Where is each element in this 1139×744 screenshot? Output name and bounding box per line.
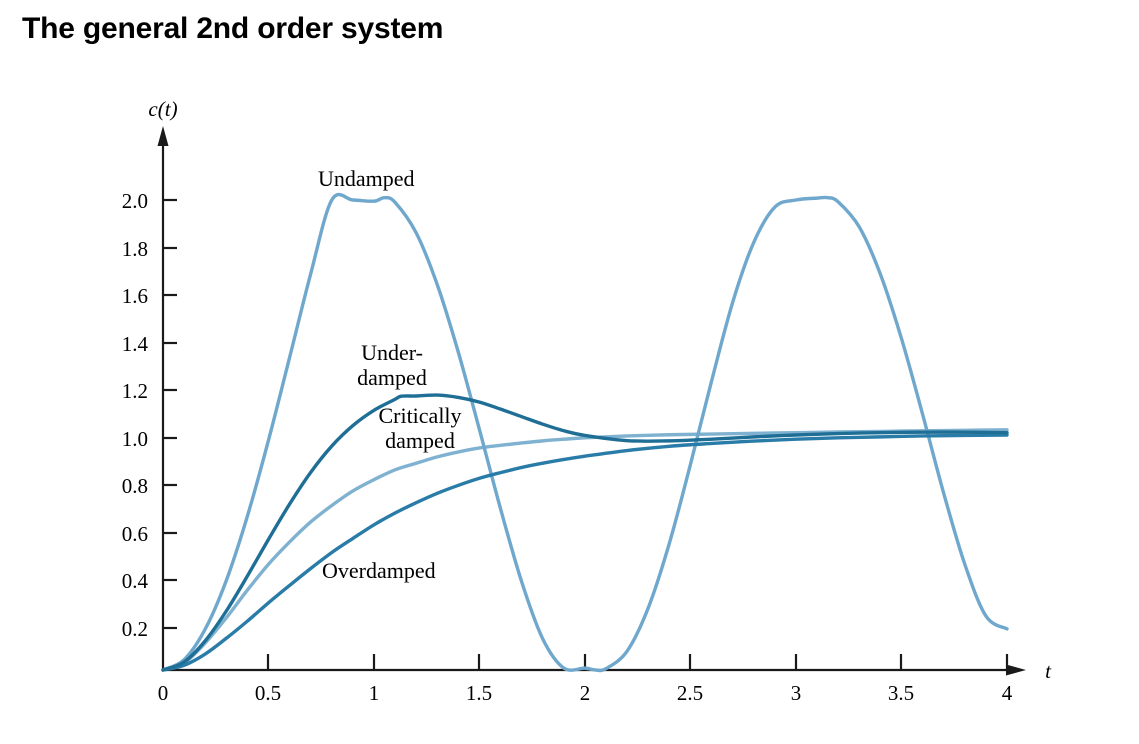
x-tick-label: 2: [580, 681, 591, 705]
y-tick-label: 0.6: [122, 522, 148, 546]
y-tick-label: 1.2: [122, 379, 148, 403]
y-tick-label: 1.6: [122, 284, 148, 308]
y-tick-group: [163, 200, 177, 628]
x-tick-label: 3.5: [888, 681, 914, 705]
x-tick-label: 4: [1002, 681, 1013, 705]
y-tick-label: 0.4: [122, 569, 149, 593]
x-tick-label: 1.5: [466, 681, 492, 705]
curve-overdamped: [163, 435, 1007, 670]
x-tick-label: 0.5: [255, 681, 281, 705]
axis-group: [158, 126, 1027, 676]
y-tick-labels: 2.0 1.8 1.6 1.4 1.2 1.0 0.8 0.6 0.4 0.2: [122, 189, 149, 641]
x-tick-labels: 0 0.5 1 1.5 2 2.5 3 3.5 4: [158, 681, 1013, 705]
x-axis-arrowhead: [1006, 665, 1026, 676]
label-undamped: Undamped: [318, 166, 415, 191]
curves-group: [163, 194, 1007, 670]
label-underdamped-line2: damped: [357, 365, 427, 390]
curve-critically-damped: [163, 430, 1007, 670]
label-critically-damped-line2: damped: [385, 428, 455, 453]
x-tick-group: [268, 654, 1007, 670]
y-tick-label: 0.2: [122, 617, 148, 641]
y-axis-label: c(t): [148, 97, 177, 121]
label-critically-damped-line1: Critically: [378, 403, 461, 428]
x-tick-label: 2.5: [677, 681, 703, 705]
label-overdamped: Overdamped: [322, 558, 436, 583]
y-axis-arrowhead: [158, 126, 169, 146]
x-axis-label: t: [1045, 659, 1052, 683]
y-tick-label: 2.0: [122, 189, 148, 213]
curve-annotations: Undamped Under- damped Critically damped…: [318, 166, 462, 583]
y-tick-label: 1.0: [122, 427, 148, 451]
y-tick-label: 1.4: [122, 332, 149, 356]
x-tick-label: 1: [369, 681, 380, 705]
y-tick-label: 0.8: [122, 474, 148, 498]
y-tick-label: 1.8: [122, 237, 148, 261]
chart-figure: 2.0 1.8 1.6 1.4 1.2 1.0 0.8 0.6 0.4 0.2 …: [0, 0, 1139, 744]
x-tick-label: 3: [791, 681, 802, 705]
label-underdamped-line1: Under-: [361, 340, 423, 365]
x-tick-label: 0: [158, 681, 169, 705]
